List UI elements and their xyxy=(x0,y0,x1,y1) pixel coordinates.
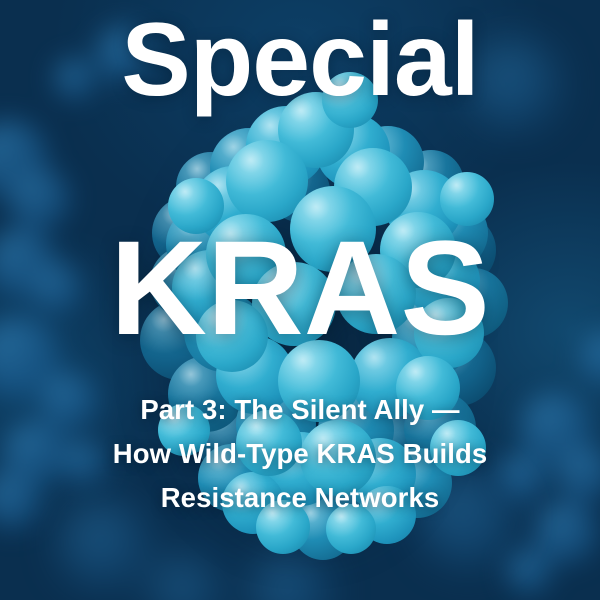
subtitle: Part 3: The Silent Ally — How Wild-Type … xyxy=(60,388,540,520)
subtitle-line-1: Part 3: The Silent Ally — xyxy=(60,388,540,432)
page-title: KRAS xyxy=(0,222,600,356)
cover-canvas: Special KRAS Part 3: The Silent Ally — H… xyxy=(0,0,600,600)
subtitle-line-2: How Wild-Type KRAS Builds xyxy=(60,432,540,476)
cover-text-layer: Special KRAS Part 3: The Silent Ally — H… xyxy=(0,0,600,600)
kicker-text: Special xyxy=(0,8,600,112)
subtitle-line-3: Resistance Networks xyxy=(60,476,540,520)
